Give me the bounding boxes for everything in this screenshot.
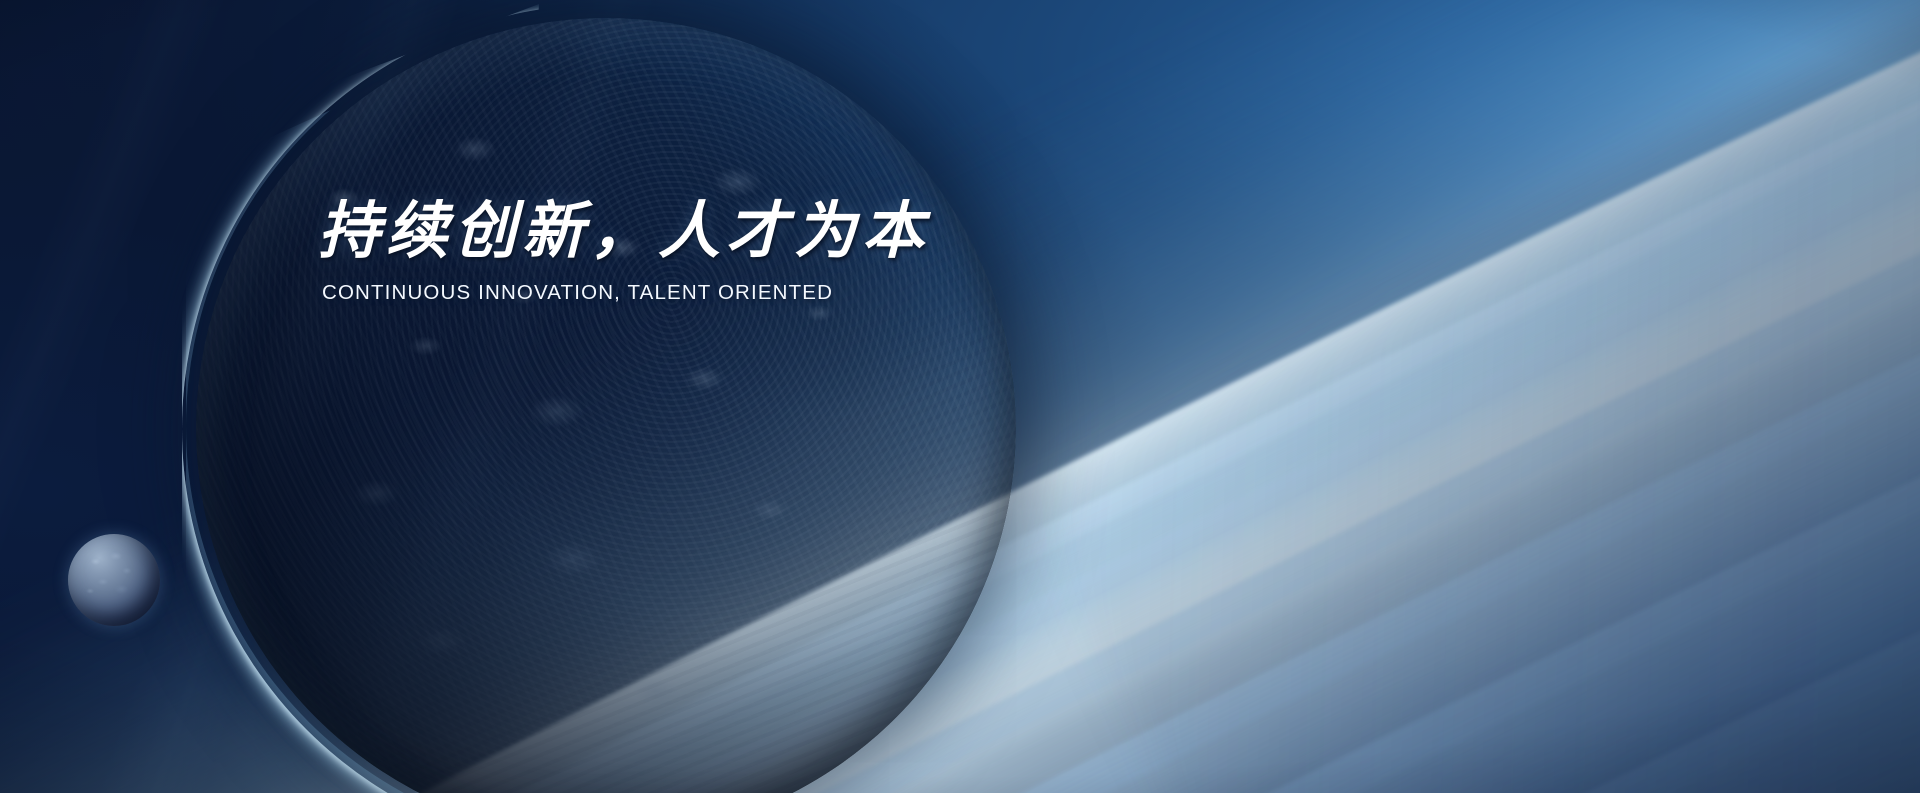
banner-subline: CONTINUOUS INNOVATION, TALENT ORIENTED — [322, 281, 1218, 306]
banner-copy-block: 持续创新，人才为本 CONTINUOUS INNOVATION, TALENT … — [318, 196, 1218, 306]
scene-vignette — [0, 0, 1920, 793]
banner-hero: 持续创新，人才为本 CONTINUOUS INNOVATION, TALENT … — [0, 0, 1920, 793]
banner-headline: 持续创新，人才为本 — [318, 196, 1218, 265]
